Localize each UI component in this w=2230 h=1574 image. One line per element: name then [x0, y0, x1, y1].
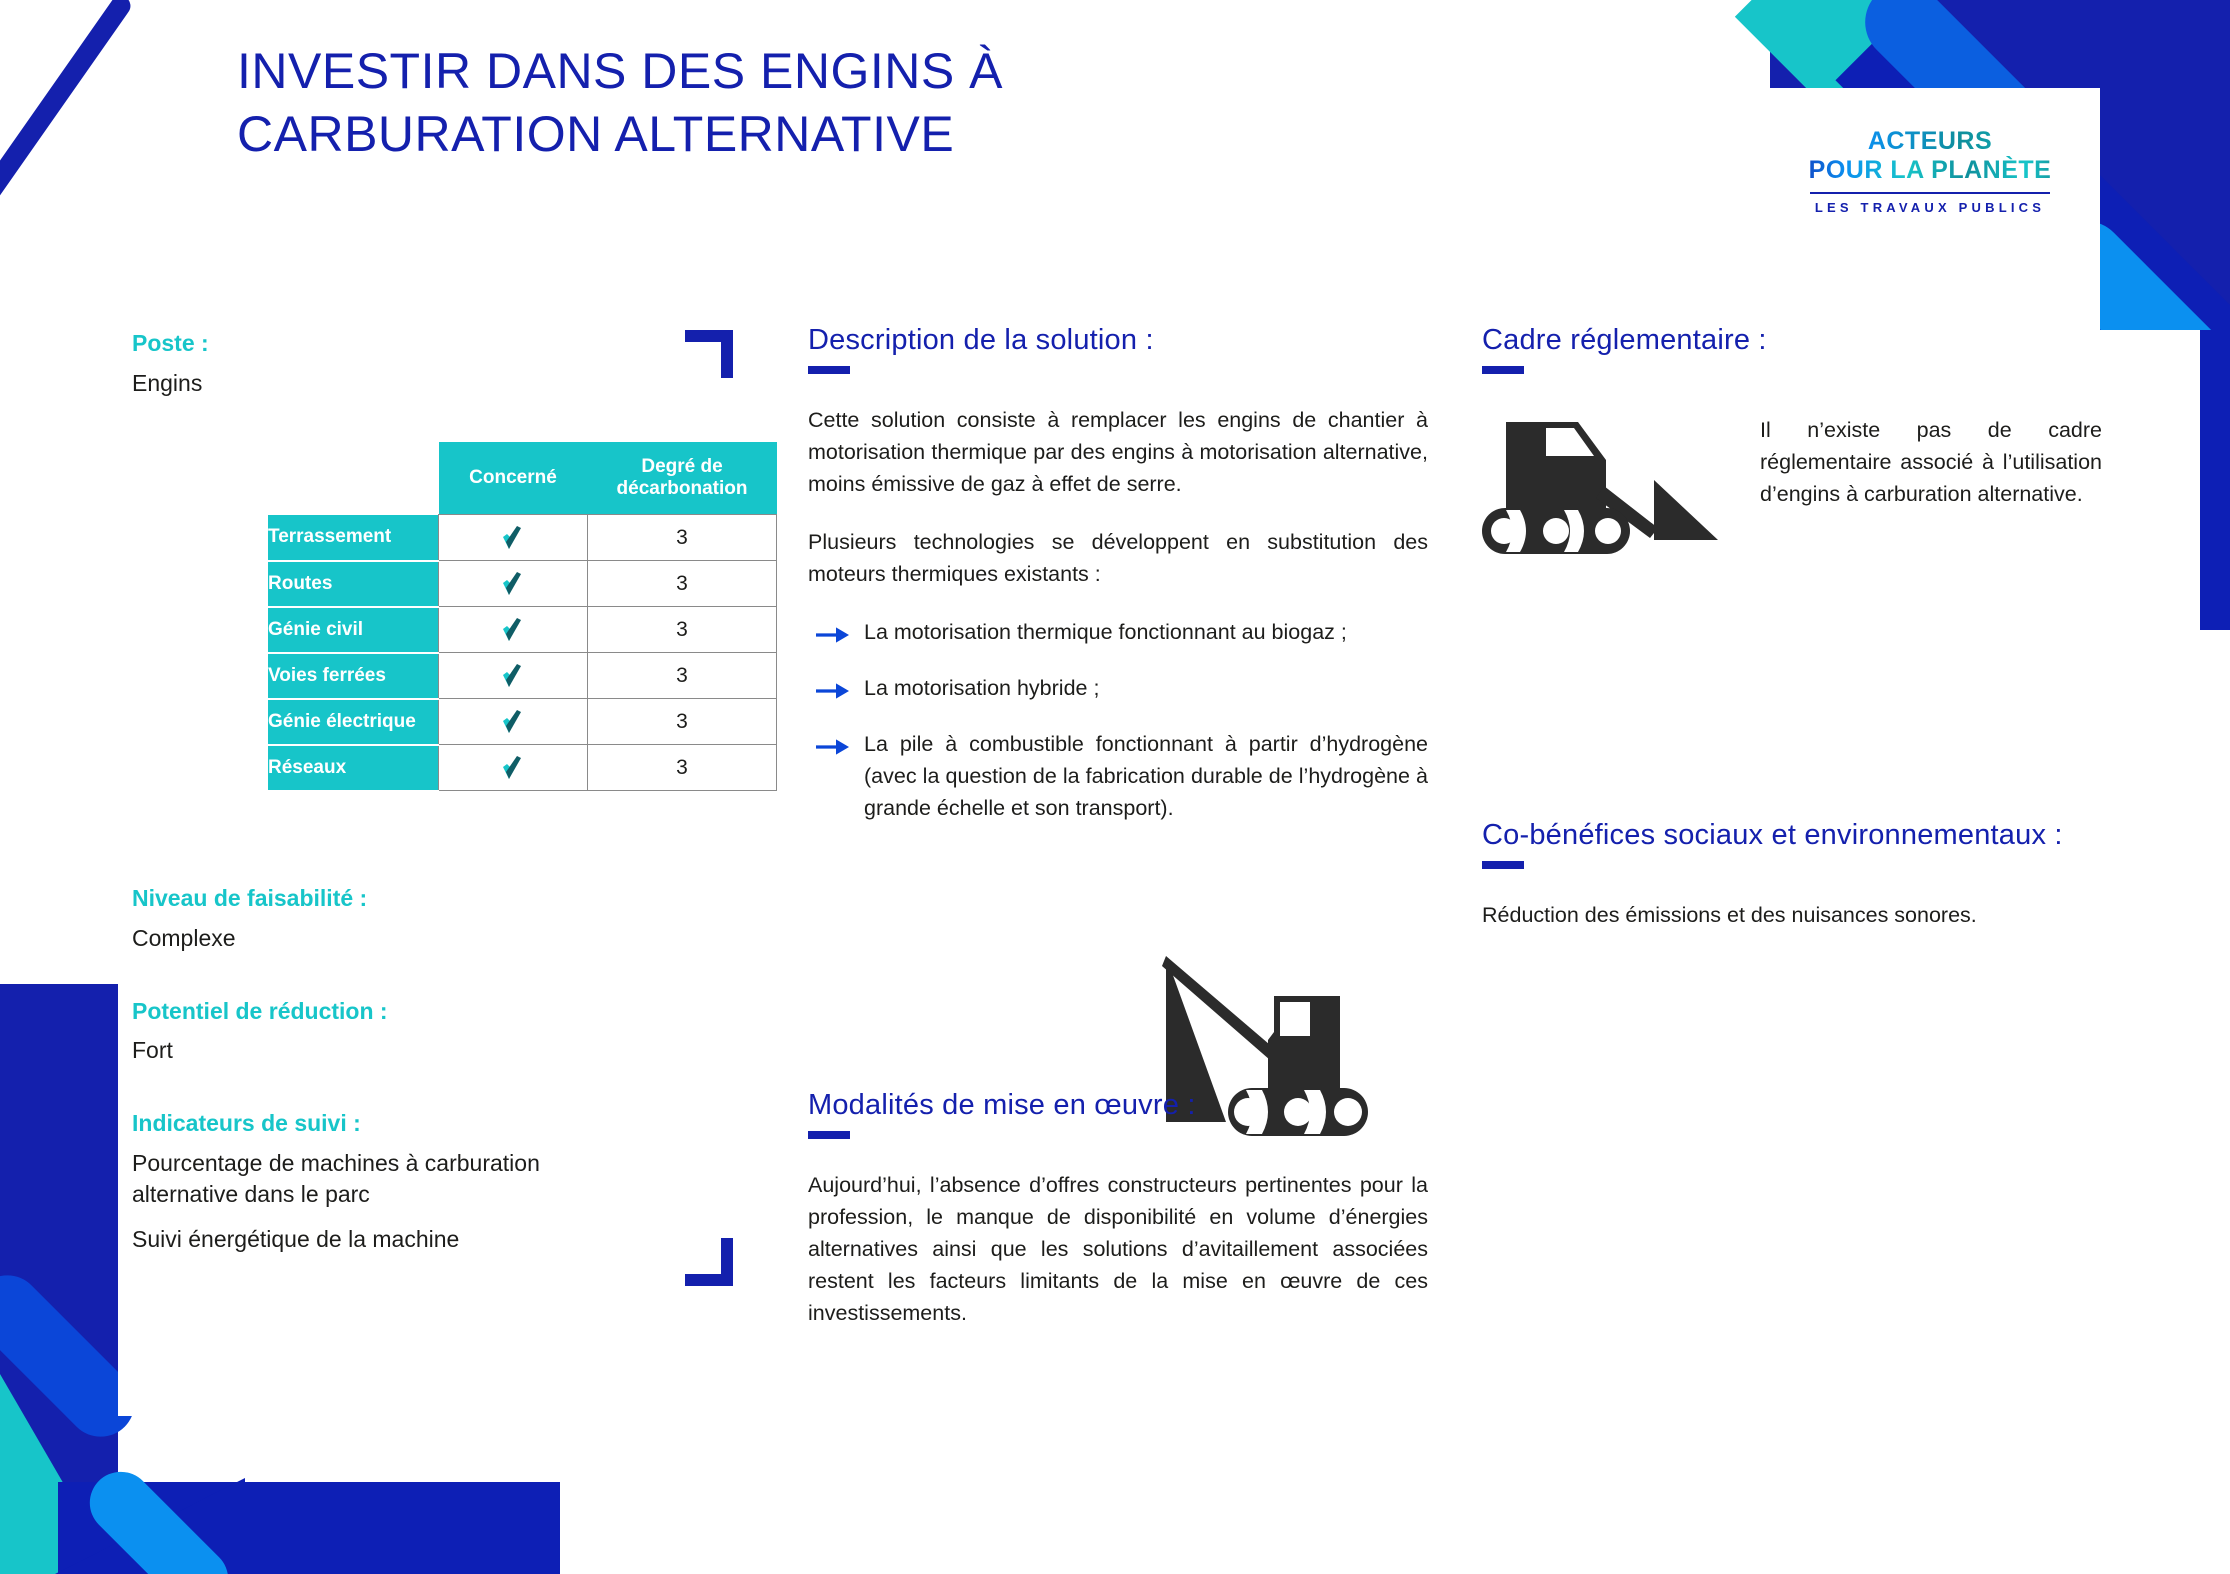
table-row: Terrassement 3: [268, 515, 777, 561]
check-icon: [500, 663, 526, 689]
modalites-text: Aujourd’hui, l’absence d’offres construc…: [808, 1169, 1428, 1329]
table-header-degre-line2: décarbonation: [617, 478, 748, 499]
faisabilite-label: Niveau de faisabilité :: [132, 885, 692, 913]
table-header-concerne: Concerné: [439, 442, 588, 515]
arrow-right-icon: [816, 622, 850, 642]
logo: ACTEURS POUR LA PLANÈTE LES TRAVAUX PUBL…: [1780, 128, 2080, 215]
table-cell-concerne: [439, 653, 588, 699]
table-header-row: Concerné Degré de décarbonation: [268, 442, 777, 515]
middle-column: Description de la solution : Cette solut…: [808, 325, 1428, 848]
poste-value: Engins: [132, 368, 712, 399]
table-cell-concerne: [439, 515, 588, 561]
right-column: Cadre réglementaire :: [1482, 325, 2102, 569]
faisabilite-block: Niveau de faisabilité : Complexe: [132, 885, 692, 954]
potentiel-value: Fort: [132, 1035, 692, 1066]
cobenefices-heading: Co-bénéfices sociaux et environnementaux…: [1482, 820, 2102, 852]
description-heading: Description de la solution :: [808, 325, 1428, 357]
check-icon: [500, 755, 526, 781]
potentiel-block: Potentiel de réduction : Fort: [132, 998, 692, 1067]
table-row-label: Routes: [268, 561, 439, 607]
list-item-text: La pile à combustible fonctionnant à par…: [864, 732, 1428, 820]
bulldozer-icon: [1482, 404, 1732, 569]
modalites-section: Modalités de mise en œuvre : Aujourd’hui…: [808, 1090, 1428, 1329]
arrow-right-icon: [816, 678, 850, 698]
list-item: La motorisation hybride ;: [808, 672, 1428, 704]
cadre-content: Il n’existe pas de cadre réglementaire a…: [1482, 404, 2102, 569]
table-cell-concerne: [439, 607, 588, 653]
list-item: La pile à combustible fonctionnant à par…: [808, 728, 1428, 824]
table-header-degre-line1: Degré de: [641, 456, 722, 477]
cobenefices-heading-rule: [1482, 861, 1524, 869]
list-item-text: La motorisation thermique fonctionnant a…: [864, 620, 1347, 644]
cadre-text: Il n’existe pas de cadre réglementaire a…: [1760, 404, 2102, 510]
indicateurs-label: Indicateurs de suivi :: [132, 1110, 692, 1138]
decarbonation-table: Concerné Degré de décarbonation Terrasse…: [268, 442, 777, 792]
table-header-empty: [268, 442, 439, 515]
table-body: Terrassement 3 Routes: [268, 515, 777, 791]
table-row: Voies ferrées 3: [268, 653, 777, 699]
decor-right-vertical-bar: [2200, 330, 2230, 630]
modalites-heading: Modalités de mise en œuvre :: [808, 1090, 1428, 1122]
table-row: Génie civil 3: [268, 607, 777, 653]
table-row: Réseaux 3: [268, 745, 777, 791]
poster-page: INVESTIR DANS DES ENGINS À CARBURATION A…: [0, 0, 2230, 1574]
table-cell-degre: 3: [588, 653, 777, 699]
potentiel-label: Potentiel de réduction :: [132, 998, 692, 1026]
table-cell-concerne: [439, 561, 588, 607]
logo-line-pour-la-planete: POUR LA PLANÈTE: [1780, 156, 2080, 185]
check-icon: [500, 709, 526, 735]
table-header-degre: Degré de décarbonation: [588, 442, 777, 515]
technologies-list: La motorisation thermique fonctionnant a…: [808, 616, 1428, 824]
table-row-label: Voies ferrées: [268, 653, 439, 699]
cadre-heading: Cadre réglementaire :: [1482, 325, 2102, 357]
table-row: Génie électrique 3: [268, 699, 777, 745]
table-cell-concerne: [439, 745, 588, 791]
poste-label: Poste :: [132, 330, 712, 358]
decor-slash-top-left: [0, 0, 134, 208]
table-row-label: Génie civil: [268, 607, 439, 653]
table-cell-degre: 3: [588, 607, 777, 653]
table-row-label: Terrassement: [268, 515, 439, 561]
indicateurs-block: Indicateurs de suivi : Pourcentage de ma…: [132, 1110, 692, 1255]
table-row-label: Réseaux: [268, 745, 439, 791]
modalites-heading-rule: [808, 1131, 850, 1139]
list-item-text: La motorisation hybride ;: [864, 676, 1099, 700]
cobenefices-text: Réduction des émissions et des nuisances…: [1482, 899, 2102, 931]
description-paragraph-1: Cette solution consiste à remplacer les …: [808, 404, 1428, 500]
table-cell-degre: 3: [588, 699, 777, 745]
logo-line-acteurs: ACTEURS: [1780, 128, 2080, 156]
table-row-label: Génie électrique: [268, 699, 439, 745]
cobenefices-section: Co-bénéfices sociaux et environnementaux…: [1482, 820, 2102, 931]
left-column: Poste : Engins: [132, 330, 712, 399]
table-cell-degre: 3: [588, 561, 777, 607]
check-icon: [500, 571, 526, 597]
list-item: La motorisation thermique fonctionnant a…: [808, 616, 1428, 648]
arrow-right-icon: [816, 734, 850, 754]
indicateur-item: Suivi énergétique de la machine: [132, 1224, 692, 1255]
faisabilite-value: Complexe: [132, 923, 692, 954]
check-icon: [500, 525, 526, 551]
description-paragraph-2: Plusieurs technologies se développent en…: [808, 526, 1428, 590]
indicateur-item: Pourcentage de machines à carburation al…: [132, 1148, 652, 1210]
table-cell-degre: 3: [588, 745, 777, 791]
decor-bracket-bottom-left: [685, 1238, 733, 1286]
table-cell-concerne: [439, 699, 588, 745]
logo-divider: [1810, 192, 2050, 194]
logo-line-les-travaux-publics: LES TRAVAUX PUBLICS: [1780, 200, 2080, 215]
table-row: Routes 3: [268, 561, 777, 607]
table-cell-degre: 3: [588, 515, 777, 561]
description-heading-rule: [808, 366, 850, 374]
cadre-heading-rule: [1482, 366, 1524, 374]
left-column-lower: Niveau de faisabilité : Complexe Potenti…: [132, 885, 692, 1255]
check-icon: [500, 617, 526, 643]
page-title: INVESTIR DANS DES ENGINS À CARBURATION A…: [237, 40, 1337, 166]
poste-block: Poste : Engins: [132, 330, 712, 399]
